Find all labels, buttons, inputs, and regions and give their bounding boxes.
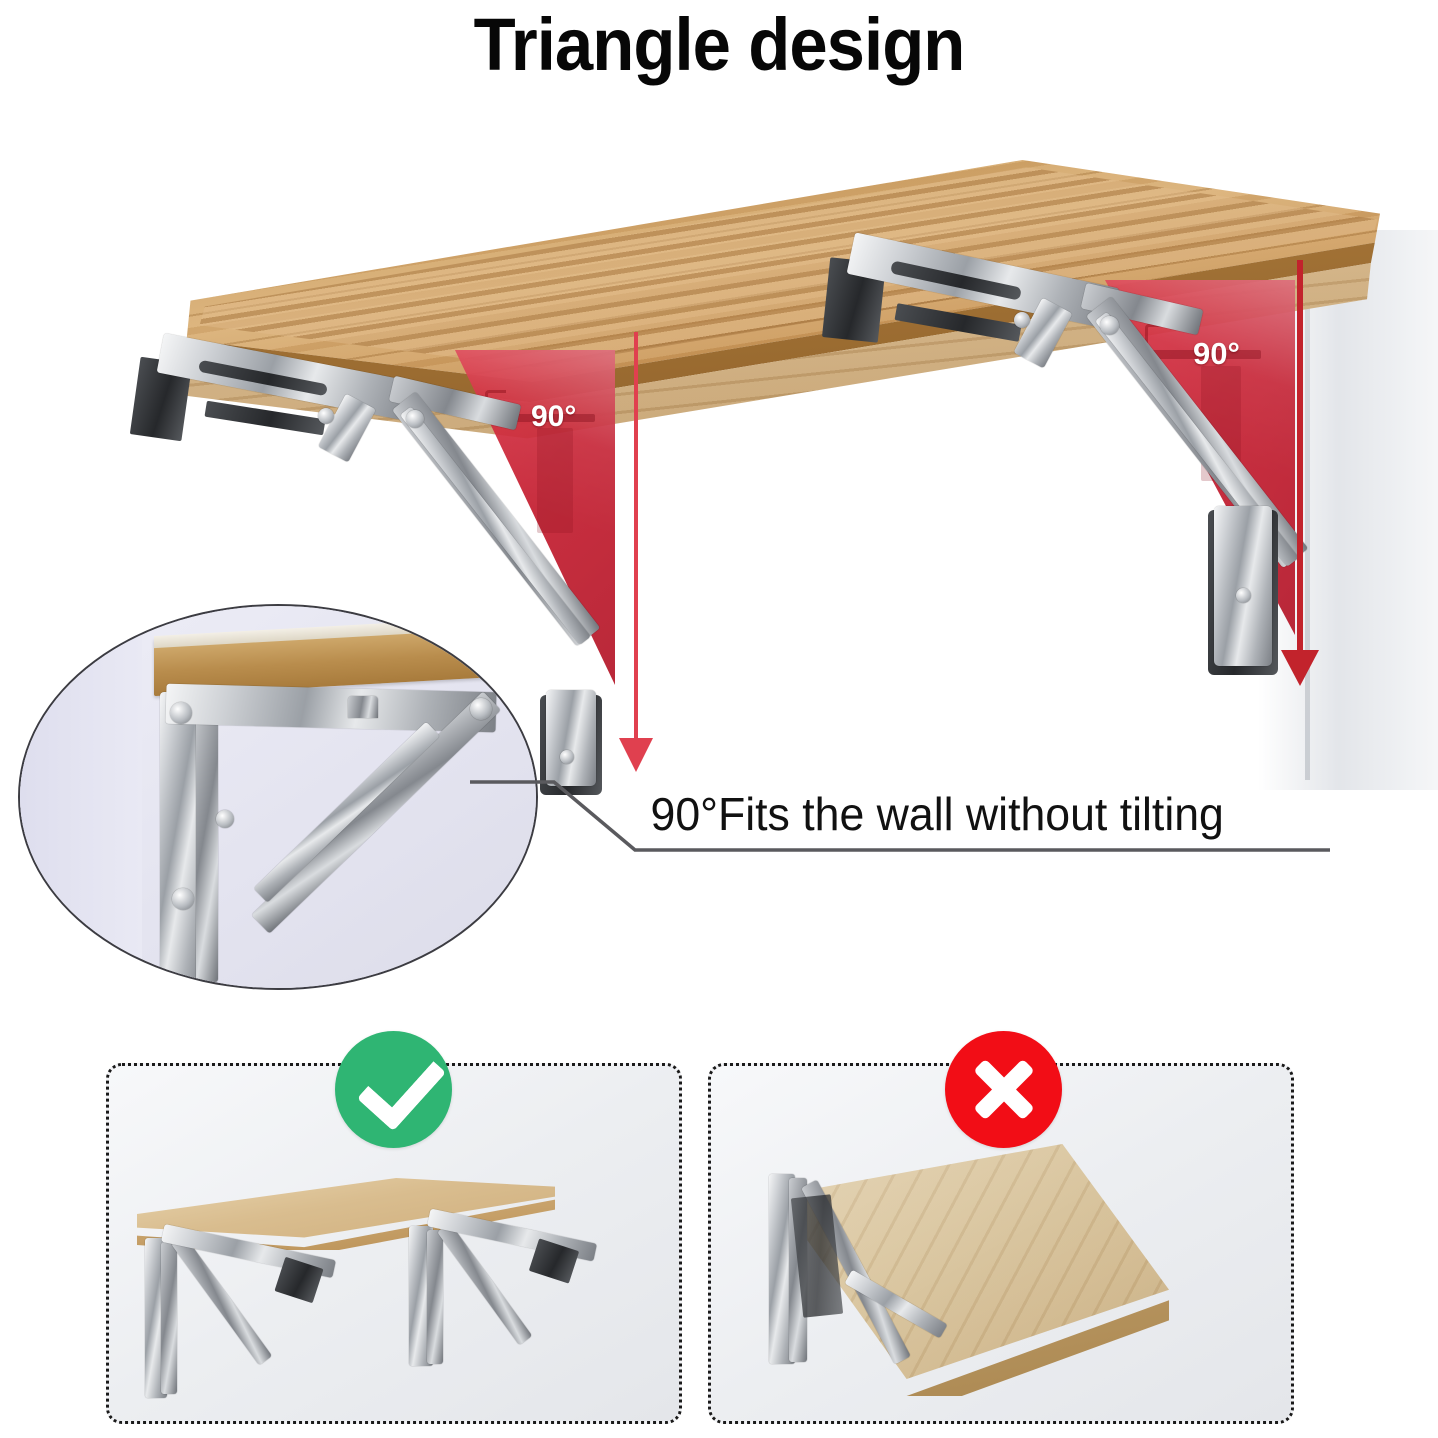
angle-label-left: 90° — [531, 400, 576, 434]
closeup-bolt-bottom — [172, 888, 194, 910]
correct-bracket-right-plate-side — [427, 1230, 443, 1364]
page-title: Triangle design — [50, 2, 1387, 87]
closeup-bolt-arm-end — [470, 698, 492, 720]
closeup-wall-plate-side — [196, 696, 218, 982]
closeup-wall-left — [20, 606, 142, 988]
right-wall-arrow-line — [1297, 260, 1303, 658]
angle-label-right: 90° — [1193, 336, 1240, 372]
closeup-hook — [348, 696, 378, 718]
right-wall-arrow-head — [1281, 650, 1319, 686]
cross-icon — [945, 1031, 1062, 1148]
infographic-page: Triangle design 90° — [0, 0, 1438, 1438]
closeup-bolt-mid — [216, 810, 234, 828]
left-wall-arrow-line — [634, 332, 638, 744]
bracket-closeup-oval — [18, 604, 538, 990]
callout-text: 90°Fits the wall without tilting — [651, 787, 1330, 841]
bracket-recess-left — [537, 428, 573, 533]
closeup-bolt-top — [170, 702, 192, 724]
pivot-pin-left-a — [406, 410, 424, 428]
wall-plate-face-right — [1214, 506, 1272, 666]
pivot-pin-right-c — [1236, 588, 1251, 603]
check-icon-glyph — [357, 1040, 446, 1131]
correct-bracket-left-plate-side — [161, 1242, 177, 1394]
pivot-pin-right-a — [1100, 316, 1119, 335]
check-icon — [335, 1031, 452, 1148]
pivot-pin-left-b — [318, 408, 334, 424]
pivot-pin-right-b — [1014, 312, 1030, 328]
